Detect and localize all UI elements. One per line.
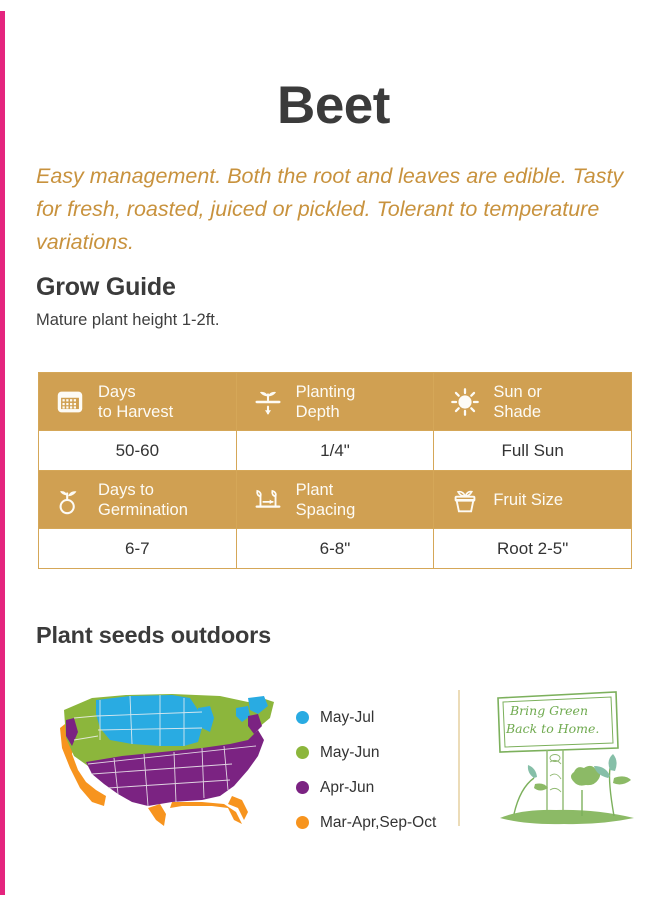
legend-dot-icon — [296, 746, 309, 759]
plant-seeds-outdoors-heading: Plant seeds outdoors — [36, 622, 271, 649]
value-fruit-size: Root 2-5" — [434, 529, 632, 569]
header-cell-sun-or-shade: Sun or Shade — [434, 373, 632, 431]
header-cell-planting-depth: Planting Depth — [236, 373, 434, 431]
legend-label: May-Jun — [320, 744, 379, 762]
header-cell-days-to-germination: Days to Germination — [39, 471, 237, 529]
sprouting-seed-icon — [53, 483, 87, 517]
legend-dot-icon — [296, 816, 309, 829]
legend-dot-icon — [296, 781, 309, 794]
header-label: Fruit Size — [493, 490, 563, 510]
legend-item: May-Jul — [296, 700, 456, 735]
legend-label: Mar-Apr,Sep-Oct — [320, 814, 436, 832]
grow-guide-subtitle: Mature plant height 1-2ft. — [36, 311, 219, 330]
garden-sign-illustration: Bring Green Back to Home. — [492, 686, 644, 836]
header-cell-fruit-size: Fruit Size — [434, 471, 632, 529]
header-label-line1: Days — [98, 383, 136, 401]
map-legend: May-Jul May-Jun Apr-Jun Mar-Apr,Sep-Oct — [296, 700, 456, 840]
value-planting-depth: 1/4" — [236, 431, 434, 471]
potted-plant-icon — [448, 483, 482, 517]
sun-icon — [448, 385, 482, 419]
header-cell-plant-spacing: Plant Spacing — [236, 471, 434, 529]
value-sun-or-shade: Full Sun — [434, 431, 632, 471]
grow-guide-table: Days to Harvest — [38, 372, 632, 569]
grow-guide-heading: Grow Guide — [36, 273, 176, 302]
value-days-to-harvest: 50-60 — [39, 431, 237, 471]
seedling-depth-icon — [251, 385, 285, 419]
header-label-line2: Shade — [493, 403, 541, 421]
header-label: Plant Spacing — [296, 480, 356, 520]
header-cell-days-to-harvest: Days to Harvest — [39, 373, 237, 431]
plant-description: Easy management. Both the root and leave… — [36, 160, 636, 259]
page-title: Beet — [0, 76, 667, 136]
calendar-icon — [53, 385, 87, 419]
legend-label: Apr-Jun — [320, 779, 374, 797]
legend-dot-icon — [296, 711, 309, 724]
section-divider — [458, 690, 460, 826]
header-label-line1: Plant — [296, 481, 334, 499]
legend-label: May-Jul — [320, 709, 374, 727]
header-label: Sun or Shade — [493, 382, 542, 422]
usa-planting-zone-map — [52, 684, 284, 832]
legend-item: May-Jun — [296, 735, 456, 770]
accent-stripe — [0, 11, 5, 895]
table-row: Days to Harvest — [39, 373, 632, 431]
header-label-line1: Sun or — [493, 383, 542, 401]
legend-item: Mar-Apr,Sep-Oct — [296, 805, 456, 840]
seed-packet-card: Beet Easy management. Both the root and … — [0, 0, 667, 905]
header-label: Planting Depth — [296, 382, 356, 422]
header-label-line2: to Harvest — [98, 403, 173, 421]
table-row: 6-7 6-8" Root 2-5" — [39, 529, 632, 569]
legend-item: Apr-Jun — [296, 770, 456, 805]
header-label-line2: Spacing — [296, 501, 356, 519]
header-label: Days to Germination — [98, 480, 188, 520]
value-plant-spacing: 6-8" — [236, 529, 434, 569]
header-label: Days to Harvest — [98, 382, 173, 422]
value-days-to-germination: 6-7 — [39, 529, 237, 569]
header-label-line2: Germination — [98, 501, 188, 519]
plant-spacing-icon — [251, 483, 285, 517]
header-label-line1: Planting — [296, 383, 356, 401]
header-label-line1: Fruit Size — [493, 491, 563, 509]
header-label-line2: Depth — [296, 403, 340, 421]
table-row: Days to Germination — [39, 471, 632, 529]
table-row: 50-60 1/4" Full Sun — [39, 431, 632, 471]
header-label-line1: Days to — [98, 481, 154, 499]
